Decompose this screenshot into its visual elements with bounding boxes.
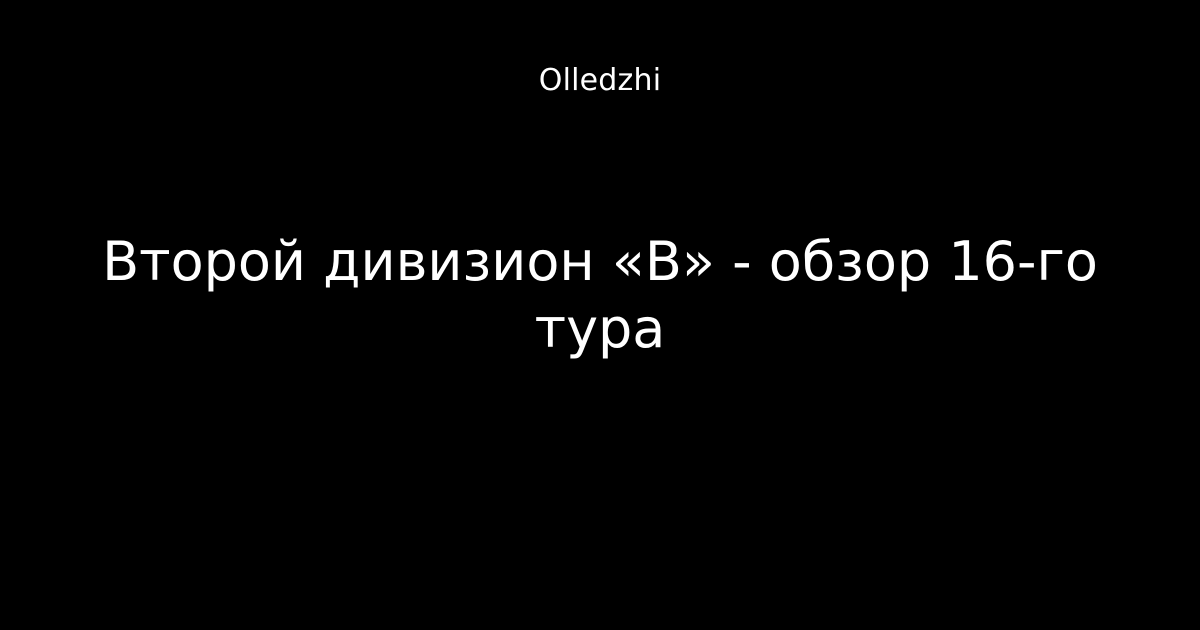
site-name: Olledzhi xyxy=(539,66,661,96)
site-name-container: Olledzhi xyxy=(0,66,1200,96)
page-title: Второй дивизион «В» - обзор 16-го тура xyxy=(60,228,1140,362)
headline-container: Второй дивизион «В» - обзор 16-го тура xyxy=(60,228,1140,362)
social-share-card: Olledzhi Второй дивизион «В» - обзор 16-… xyxy=(0,0,1200,630)
